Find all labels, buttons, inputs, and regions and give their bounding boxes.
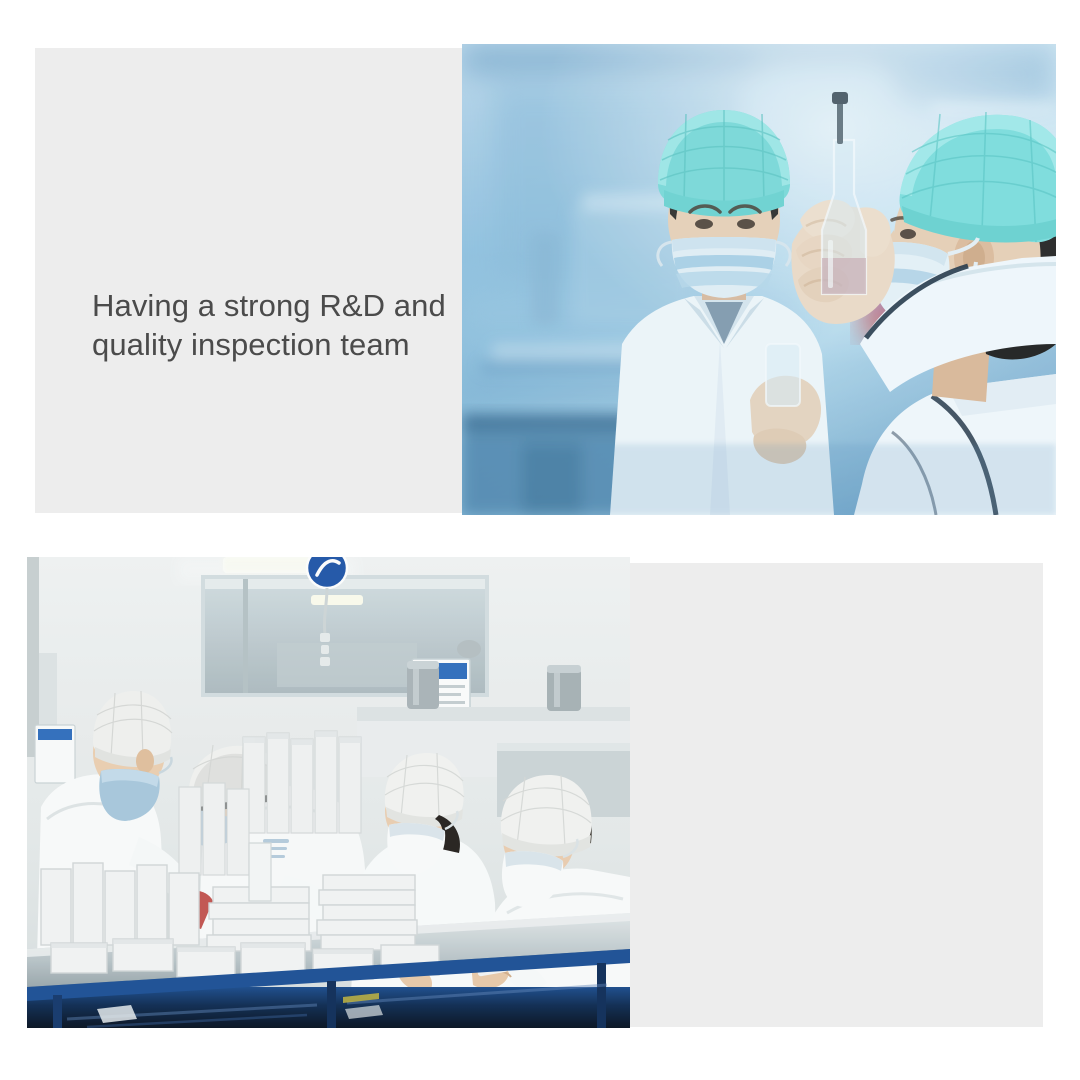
laboratory-photo-graphic — [462, 44, 1056, 515]
warehouse-photo-graphic — [27, 557, 630, 1028]
top-caption-text: Having a strong R&D and quality inspecti… — [92, 286, 487, 365]
bottom-caption-panel: a warehouse distribution area a warehous… — [600, 563, 1043, 1027]
top-caption-panel: Having a strong R&D and quality inspecti… — [35, 48, 465, 513]
rd-quality-inspection-block: Having a strong R&D and quality inspecti… — [0, 0, 1080, 540]
laboratory-photo — [462, 44, 1056, 515]
page-root: Having a strong R&D and quality inspecti… — [0, 0, 1080, 1080]
warehouse-packing-block: a warehouse distribution area a warehous… — [0, 540, 1080, 1080]
warehouse-photo — [27, 557, 630, 1028]
